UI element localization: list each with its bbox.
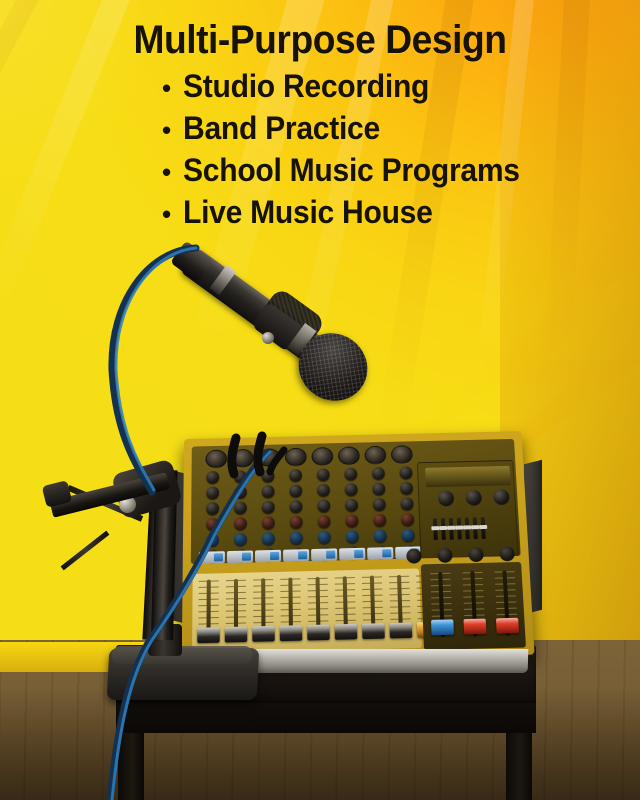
eq-slider xyxy=(457,518,462,540)
effect-knob xyxy=(438,490,455,506)
eq-mid-knob xyxy=(344,499,357,512)
list-item: • School Music Programs xyxy=(162,150,582,192)
eq-mid-knob xyxy=(233,501,246,514)
gain-knob xyxy=(289,469,302,482)
xlr-input xyxy=(232,449,254,468)
eq-high-knob xyxy=(372,482,385,495)
gain-knob xyxy=(399,466,412,479)
aux-knob xyxy=(233,533,246,546)
eq-high-knob xyxy=(233,486,246,499)
eq-low-knob xyxy=(373,514,386,527)
mute-led xyxy=(326,550,335,558)
channel-fader xyxy=(333,574,359,646)
mute-led xyxy=(242,553,251,561)
eq-slider xyxy=(465,518,470,540)
page-title: Multi-Purpose Design xyxy=(22,18,617,63)
mute-button xyxy=(199,551,225,564)
mute-button xyxy=(339,548,365,561)
list-item-label: School Music Programs xyxy=(183,150,520,190)
bullet-icon: • xyxy=(162,194,171,234)
eq-high-knob xyxy=(261,485,274,498)
list-item: • Live Music House xyxy=(162,192,582,234)
bullet-icon: • xyxy=(162,152,171,192)
mute-button xyxy=(283,549,309,562)
eq-slider xyxy=(433,518,438,540)
channel-fader xyxy=(278,575,303,647)
mute-button xyxy=(227,550,253,563)
channel-fader xyxy=(251,576,276,648)
channel-strip xyxy=(310,468,337,560)
aux-knob xyxy=(401,529,414,542)
channel-strip xyxy=(365,467,394,559)
mute-button xyxy=(311,548,337,561)
gain-knob xyxy=(233,470,246,483)
eq-mid-knob xyxy=(206,502,219,515)
table-apron xyxy=(116,703,536,733)
xlr-input xyxy=(258,448,280,467)
output-jack xyxy=(499,546,515,561)
mute-led xyxy=(298,551,307,559)
xlr-input xyxy=(338,446,360,465)
marketing-banner: Multi-Purpose Design • Studio Recording … xyxy=(0,0,640,800)
effect-knob xyxy=(465,490,482,506)
aux-knob xyxy=(289,531,302,544)
effects-knob-row xyxy=(438,489,510,506)
table-leg-right xyxy=(506,733,532,800)
microphone-clip-screw xyxy=(262,332,274,344)
aux-knob xyxy=(205,533,218,546)
channel-strip xyxy=(255,469,281,561)
graphic-eq-sliders xyxy=(433,517,486,540)
list-item: • Band Practice xyxy=(162,108,582,150)
aux-knob xyxy=(261,532,274,545)
gain-knob xyxy=(261,470,274,483)
eq-slider xyxy=(473,517,478,539)
mute-button xyxy=(367,547,393,560)
master-fader-red-2 xyxy=(493,568,519,642)
effect-knob xyxy=(493,489,510,505)
mute-led xyxy=(270,552,279,560)
list-item-label: Studio Recording xyxy=(183,66,429,106)
gain-knob xyxy=(344,468,357,481)
mixer-body xyxy=(182,431,535,663)
eq-high-knob xyxy=(289,484,302,497)
aux-knob xyxy=(373,529,386,542)
channel-fader xyxy=(224,577,249,649)
master-fader-red-1 xyxy=(461,569,487,643)
feature-list: • Studio Recording • Band Practice • Sch… xyxy=(162,66,582,234)
channel-fader xyxy=(305,575,331,647)
eq-mid-knob xyxy=(261,501,274,514)
eq-mid-knob xyxy=(372,498,385,511)
channel-fader xyxy=(360,573,386,645)
audio-mixer-console xyxy=(183,432,528,657)
channel-fader xyxy=(196,577,221,649)
eq-high-knob xyxy=(344,483,357,496)
aux-knob xyxy=(317,531,330,544)
master-fader-blue xyxy=(429,570,454,644)
mute-led xyxy=(382,549,391,557)
eq-slider xyxy=(449,518,454,540)
gain-knob xyxy=(206,471,219,484)
output-jack-row xyxy=(406,546,515,564)
eq-high-knob xyxy=(399,482,412,495)
channel-strip xyxy=(199,471,225,563)
output-jack xyxy=(468,547,484,562)
mute-led xyxy=(354,550,363,558)
dynamic-microphone xyxy=(178,236,388,401)
mute-led xyxy=(214,553,223,561)
gain-knob xyxy=(371,467,384,480)
channel-strip xyxy=(227,470,253,562)
bullet-icon: • xyxy=(162,68,171,108)
eq-low-knob xyxy=(317,515,330,528)
list-item: • Studio Recording xyxy=(162,66,582,108)
eq-mid-knob xyxy=(317,499,330,512)
effects-display xyxy=(425,466,511,487)
eq-mid-knob xyxy=(400,497,413,510)
eq-high-knob xyxy=(316,484,329,497)
table-leg-left xyxy=(118,733,144,800)
eq-low-knob xyxy=(345,514,358,527)
eq-low-knob xyxy=(289,516,302,529)
output-jack xyxy=(437,548,453,563)
bullet-icon: • xyxy=(162,110,171,150)
mute-button xyxy=(255,550,281,563)
channel-fader-row xyxy=(196,572,441,649)
xlr-input xyxy=(285,448,307,467)
list-item-label: Band Practice xyxy=(183,108,380,148)
xlr-input xyxy=(205,450,227,469)
eq-low-knob xyxy=(261,516,274,529)
channel-fader xyxy=(387,573,414,645)
master-fader-row xyxy=(429,568,520,644)
xlr-input xyxy=(391,445,413,464)
channel-strip xyxy=(282,469,309,561)
gain-knob xyxy=(316,468,329,481)
microphone-stand-base-top xyxy=(112,646,253,664)
eq-low-knob xyxy=(206,518,219,531)
xlr-input xyxy=(364,446,386,465)
output-jack xyxy=(406,548,422,563)
eq-mid-knob xyxy=(289,500,302,513)
channel-strip xyxy=(337,467,365,559)
xlr-input xyxy=(311,447,333,466)
eq-low-knob xyxy=(400,513,413,526)
eq-high-knob xyxy=(206,486,219,499)
list-item-label: Live Music House xyxy=(183,192,433,232)
aux-knob xyxy=(345,530,358,543)
eq-slider xyxy=(441,518,446,540)
eq-low-knob xyxy=(233,517,246,530)
